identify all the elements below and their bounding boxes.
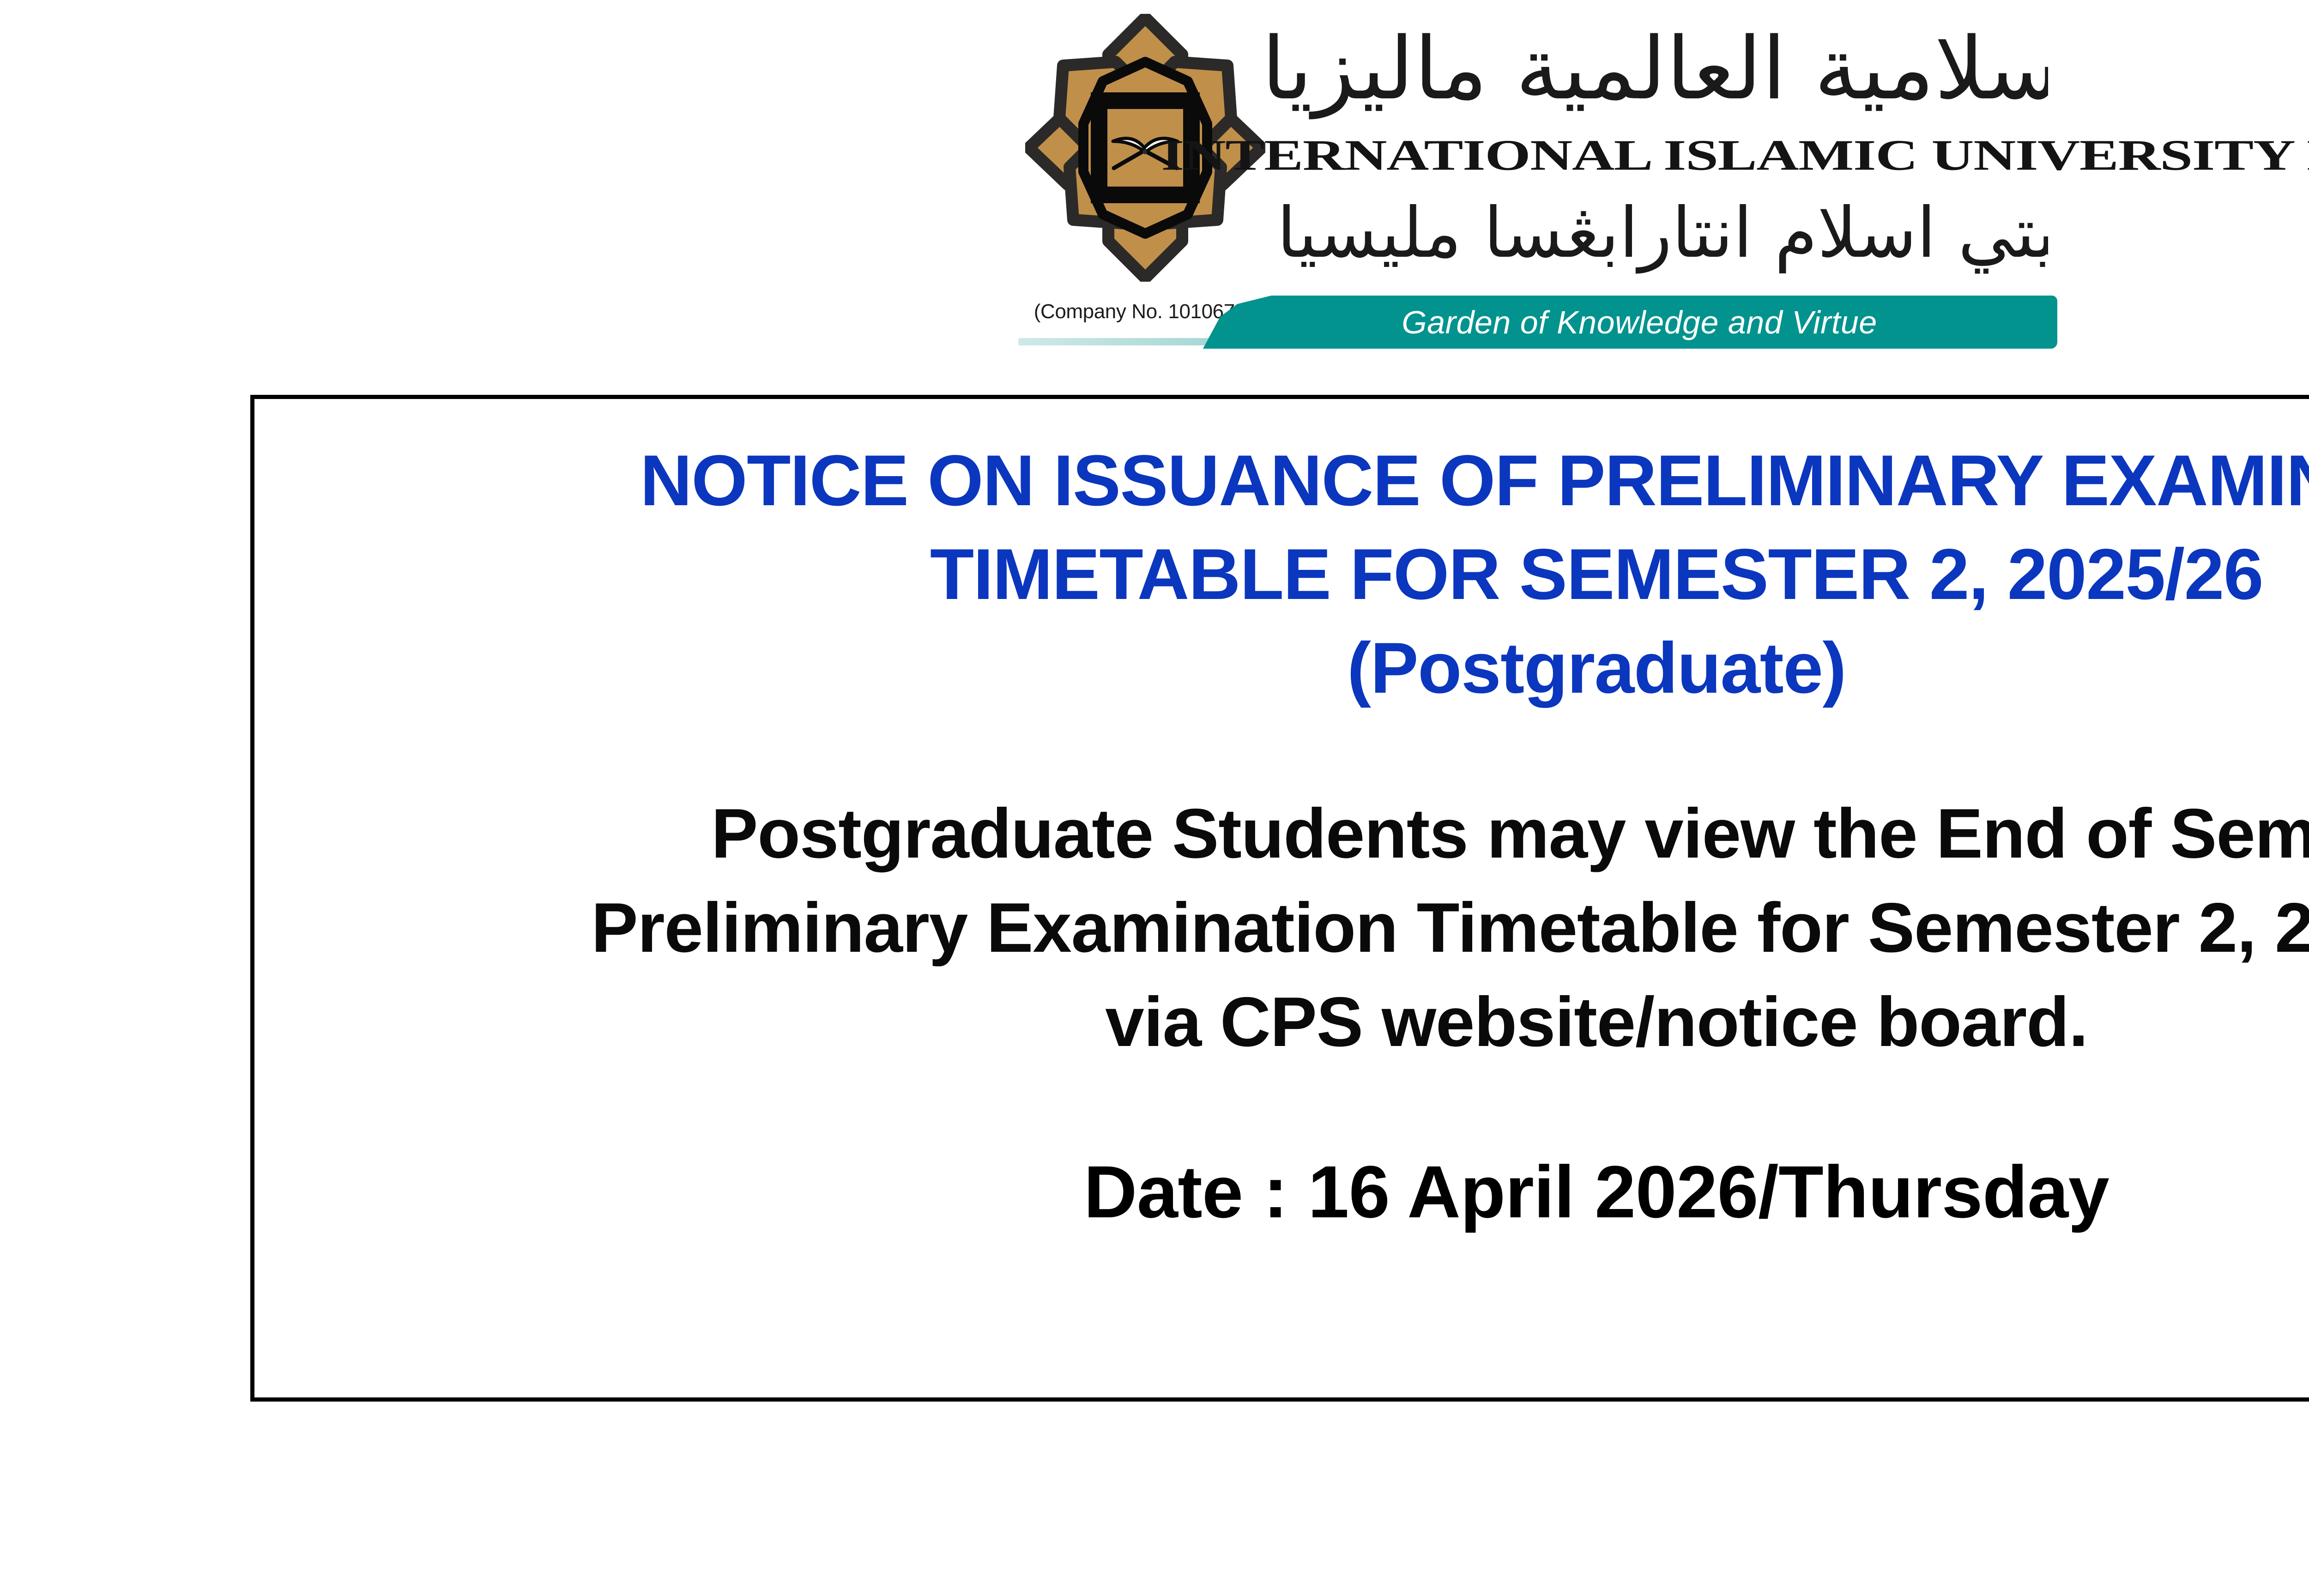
notice-body: Postgraduate Students may view the End o… <box>287 787 2309 1069</box>
notice-title-line-1: NOTICE ON ISSUANCE OF PRELIMINARY EXAMIN… <box>287 434 2309 528</box>
notice-title: NOTICE ON ISSUANCE OF PRELIMINARY EXAMIN… <box>287 434 2309 715</box>
tagline-text: Garden of Knowledge and Virtue <box>1203 296 2057 349</box>
notice-title-line-3: (Postgraduate) <box>287 622 2309 715</box>
wordmark-jawi: يونيۏرسيتي اسلام انتارابڠسا مليسيا <box>1277 175 2048 291</box>
notice-title-line-2: TIMETABLE FOR SEMESTER 2, 2025/26 <box>287 528 2309 622</box>
iium-wordmark: الجامعة الإسلامية العالمية ماليزيا INTER… <box>1277 9 2048 286</box>
notice-page: (Company No. 101067-P) الجامعة الإسلامية… <box>0 0 2309 1596</box>
notice-content: NOTICE ON ISSUANCE OF PRELIMINARY EXAMIN… <box>254 399 2309 1397</box>
notice-date: Date : 16 April 2026/Thursday <box>287 1148 2309 1236</box>
notice-body-line-1: Postgraduate Students may view the End o… <box>287 787 2309 881</box>
notice-body-line-3: via CPS website/notice board. <box>287 975 2309 1070</box>
iium-logo: (Company No. 101067-P) الجامعة الإسلامية… <box>1018 9 2057 351</box>
notice-box: NOTICE ON ISSUANCE OF PRELIMINARY EXAMIN… <box>250 395 2309 1402</box>
notice-body-line-2: Preliminary Examination Timetable for Se… <box>287 881 2309 975</box>
wordmark-arabic: الجامعة الإسلامية العالمية ماليزيا <box>1262 11 2048 127</box>
wordmark-latin: INTERNATIONAL ISLAMIC UNIVERSITY MALAYSI… <box>1161 134 2164 177</box>
tagline-ribbon: Garden of Knowledge and Virtue <box>1203 296 2057 349</box>
notice-date-line: Date : 16 April 2026/Thursday <box>287 1148 2309 1236</box>
